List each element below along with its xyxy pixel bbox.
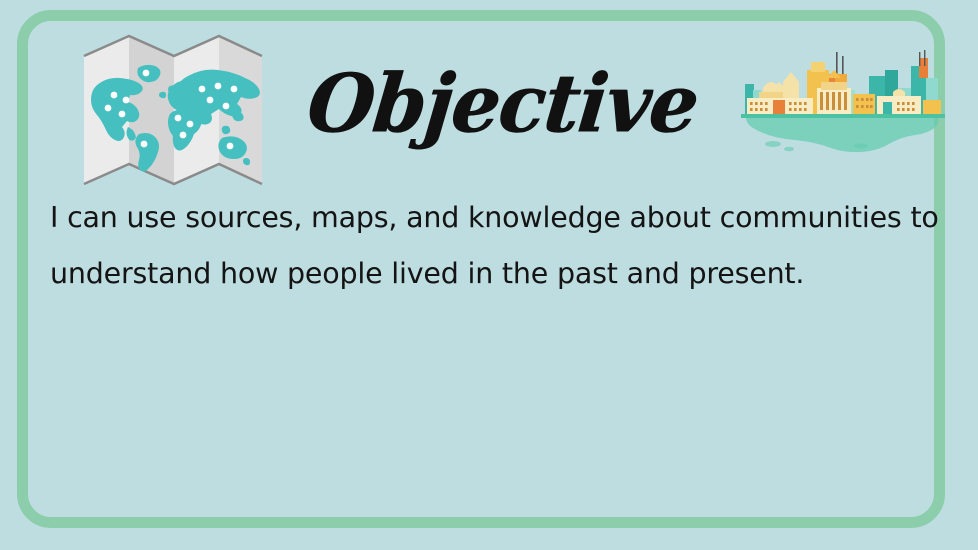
slide-canvas: Objective: [0, 0, 978, 550]
objective-line-2: understand how people lived in the past …: [50, 246, 910, 302]
slide-title-text: Objective: [303, 64, 700, 145]
city-skyline-icon: [733, 48, 955, 158]
objective-body-text: I can use sources, maps, and knowledge a…: [50, 190, 910, 302]
folded-map-icon: [82, 34, 264, 186]
slide-title: Objective: [352, 44, 652, 164]
objective-line-1: I can use sources, maps, and knowledge a…: [50, 190, 910, 246]
